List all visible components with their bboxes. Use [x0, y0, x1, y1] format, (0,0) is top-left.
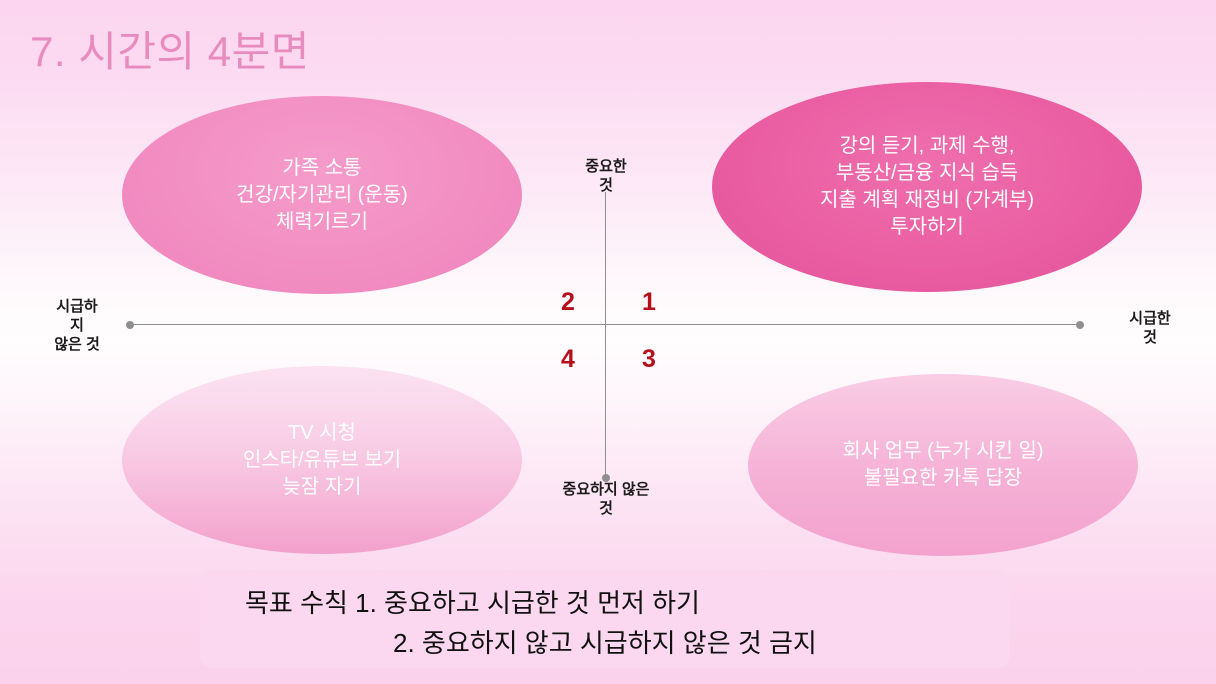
quadrant-number-4: 4: [553, 345, 583, 374]
footer-rule-2: 2. 중요하지 않고 시급하지 않은 것 금지: [245, 623, 983, 663]
axis-label-important: 중요한 것: [546, 158, 666, 196]
axis-endpoint-dot-right: [1076, 321, 1084, 329]
footer-rule-1: 목표 수칙 1. 중요하고 시급한 것 먼저 하기: [245, 583, 983, 623]
quadrant-number-1: 1: [634, 288, 664, 317]
quadrant-bubble-3: 회사 업무 (누가 시킨 일) 불필요한 카톡 답장: [748, 374, 1138, 556]
quadrant-number-2: 2: [553, 288, 583, 317]
quadrant-bubble-1-text: 강의 듣기, 과제 수행, 부동산/금융 지식 습득 지출 계획 재정비 (가계…: [820, 133, 1034, 241]
axis-label-not-urgent: 시급하 지 않은 것: [22, 298, 132, 354]
axis-label-urgent: 시급한 것: [1095, 310, 1205, 348]
slide-canvas: 7. 시간의 4분면 중요한 것 중요하지 않은 것 시급하 지 않은 것 시급…: [0, 0, 1216, 684]
axis-label-not-important: 중요하지 않은 것: [521, 481, 691, 519]
quadrant-bubble-3-text: 회사 업무 (누가 시킨 일) 불필요한 카톡 답장: [842, 438, 1043, 492]
quadrant-bubble-4-text: TV 시청 인스타/유튜브 보기 늦잠 자기: [243, 420, 401, 501]
quadrant-number-3: 3: [634, 345, 664, 374]
footer-note-box: 목표 수칙 1. 중요하고 시급한 것 먼저 하기 2. 중요하지 않고 시급하…: [200, 570, 1010, 668]
quadrant-bubble-4: TV 시청 인스타/유튜브 보기 늦잠 자기: [122, 366, 522, 554]
quadrant-bubble-1: 강의 듣기, 과제 수행, 부동산/금융 지식 습득 지출 계획 재정비 (가계…: [712, 82, 1142, 292]
vertical-axis-line: [605, 192, 606, 480]
quadrant-bubble-2: 가족 소통 건강/자기관리 (운동) 체력기르기: [122, 96, 522, 294]
quadrant-bubble-2-text: 가족 소통 건강/자기관리 (운동) 체력기르기: [236, 155, 408, 236]
page-title: 7. 시간의 4분면: [30, 18, 310, 79]
